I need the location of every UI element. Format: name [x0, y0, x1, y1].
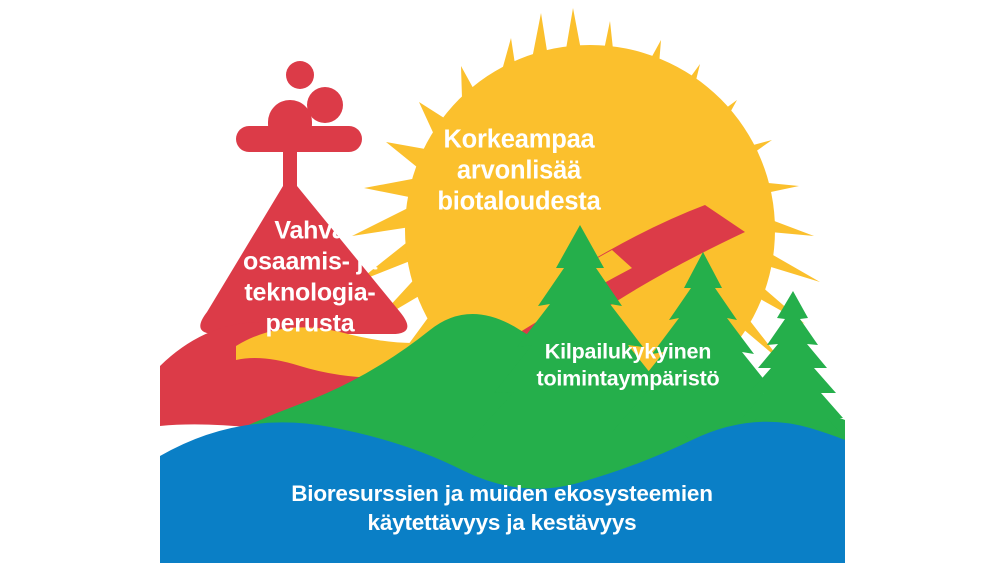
sun-label-line-1: Korkeampaa — [443, 126, 595, 154]
flask-label-line-4: perusta — [266, 310, 356, 338]
bioeconomy-infographic: Vahva osaamis- ja teknologia- perusta Ko… — [0, 0, 1000, 563]
flask-bubble-large — [307, 87, 343, 123]
sun-label-line-3: biotaloudesta — [437, 188, 601, 216]
forest-label-line-1: Kilpailukykyinen — [545, 340, 711, 364]
flask-label-line-2: osaamis- ja — [243, 248, 378, 276]
water-label-line-2: käytettävyys ja kestävyys — [368, 510, 637, 535]
water-label-line-1: Bioresurssien ja muiden ekosysteemien — [291, 481, 713, 506]
sun-label: Korkeampaa arvonlisää biotaloudesta — [437, 126, 601, 216]
sun-label-line-2: arvonlisää — [457, 157, 582, 185]
flask-label-line-3: teknologia- — [244, 279, 375, 307]
flask-rim — [236, 126, 362, 152]
forest-label-line-2: toimintaympäristö — [537, 367, 720, 391]
flask-label-line-1: Vahva — [274, 217, 347, 245]
infographic-canvas: Vahva osaamis- ja teknologia- perusta Ko… — [0, 0, 1000, 563]
flask-bubble-small — [286, 61, 314, 89]
